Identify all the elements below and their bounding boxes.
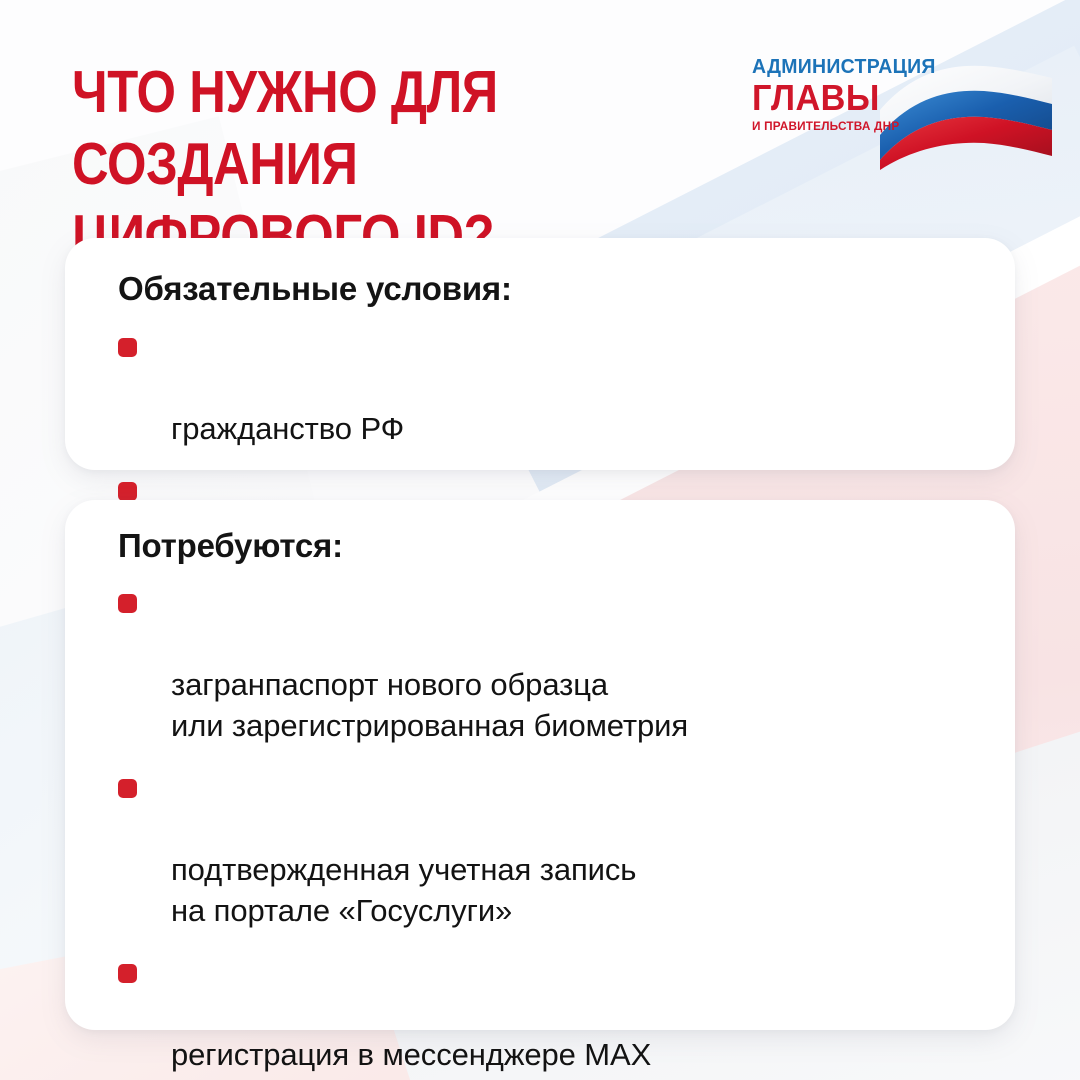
card-heading: Обязательные условия: — [118, 270, 512, 308]
bullet-list: загранпаспорт нового образца или зарегис… — [118, 582, 985, 1080]
list-item: гражданство РФ — [118, 326, 985, 449]
logo-text-block: АДМИНИСТРАЦИЯ ГЛАВЫ И ПРАВИТЕЛЬСТВА ДНР — [752, 56, 902, 133]
requirements-card-needed: Потребуются: загранпаспорт нового образц… — [65, 500, 1015, 1030]
card-heading: Потребуются: — [118, 527, 343, 565]
poster-header: ЧТО НУЖНО ДЛЯ СОЗДАНИЯ ЦИФРОВОГО ID? АДМ… — [0, 0, 1080, 230]
logo-line-head: ГЛАВЫ — [752, 79, 895, 117]
list-item: регистрация в мессенджере MAX — [118, 952, 985, 1075]
list-item-label: гражданство РФ — [171, 411, 404, 446]
bullet-square-icon — [118, 779, 137, 798]
list-item-label: регистрация в мессенджере MAX — [171, 1037, 651, 1072]
list-item-label: подтвержденная учетная запись на портале… — [171, 852, 636, 928]
organization-logo: АДМИНИСТРАЦИЯ ГЛАВЫ И ПРАВИТЕЛЬСТВА ДНР — [752, 56, 1052, 176]
list-item: загранпаспорт нового образца или зарегис… — [118, 582, 985, 746]
bullet-square-icon — [118, 594, 137, 613]
requirements-card-mandatory: Обязательные условия: гражданство РФ воз… — [65, 238, 1015, 470]
bullet-square-icon — [118, 338, 137, 357]
logo-line-government-dnr: И ПРАВИТЕЛЬСТВА ДНР — [752, 119, 895, 133]
logo-line-administration: АДМИНИСТРАЦИЯ — [752, 56, 895, 78]
infographic-poster: ЧТО НУЖНО ДЛЯ СОЗДАНИЯ ЦИФРОВОГО ID? АДМ… — [0, 0, 1080, 1080]
list-item: подтвержденная учетная запись на портале… — [118, 767, 985, 931]
bullet-square-icon — [118, 964, 137, 983]
bullet-square-icon — [118, 482, 137, 501]
list-item-label: загранпаспорт нового образца или зарегис… — [171, 667, 688, 743]
